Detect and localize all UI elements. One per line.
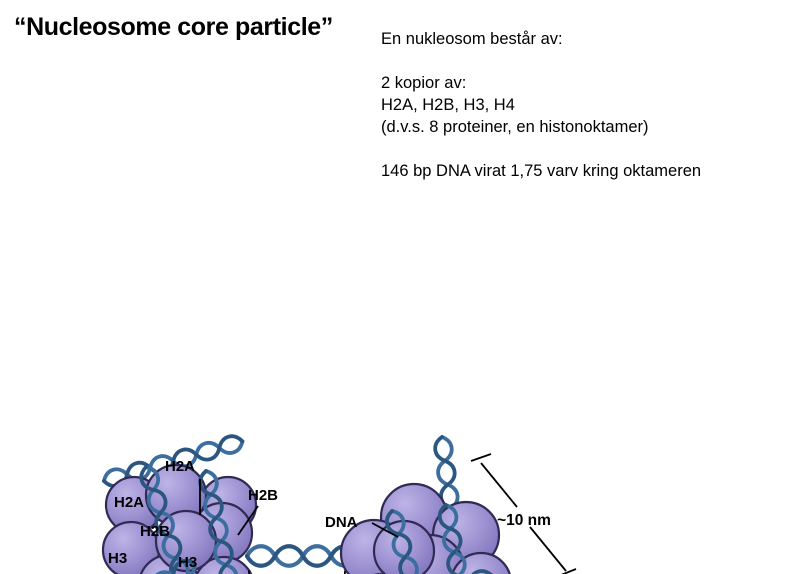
text-spacer (381, 138, 701, 160)
description-line-1: En nukleosom består av: (381, 28, 701, 50)
label-h2a-left: H2A (114, 494, 144, 511)
slide-canvas: “Nucleosome core particle” En nukleosom … (0, 0, 802, 574)
scale-label: ~10 nm (497, 512, 551, 529)
description-line-3: H2A, H2B, H3, H4 (381, 94, 701, 116)
label-h3-left: H3 (108, 550, 127, 567)
label-h2a-top: H2A (165, 458, 195, 475)
description-text-block: En nukleosom består av: 2 kopior av: H2A… (381, 28, 701, 182)
label-h2b-right: H2B (248, 487, 278, 504)
left-nucleosome: H2A H2A H2B H2B H3 H3 H4 H4 (57, 433, 278, 574)
label-dna: DNA (325, 514, 358, 531)
right-nucleosome: DNA ~10 nm Nucleosome “bead” (8 histone … (325, 436, 576, 574)
label-h3-center: H3 (178, 554, 197, 571)
text-spacer (381, 50, 701, 72)
nucleosome-diagram: H2A H2A H2B H2B H3 H3 H4 H4 Linker DNA (0, 205, 802, 574)
page-title: “Nucleosome core particle” (14, 13, 333, 42)
description-line-2: 2 kopior av: (381, 72, 701, 94)
histone-sphere-group (341, 484, 511, 574)
label-h2b-inner: H2B (140, 523, 170, 540)
description-line-4: (d.v.s. 8 proteiner, en histonoktamer) (381, 116, 701, 138)
description-line-5: 146 bp DNA virat 1,75 varv kring oktamer… (381, 160, 701, 182)
